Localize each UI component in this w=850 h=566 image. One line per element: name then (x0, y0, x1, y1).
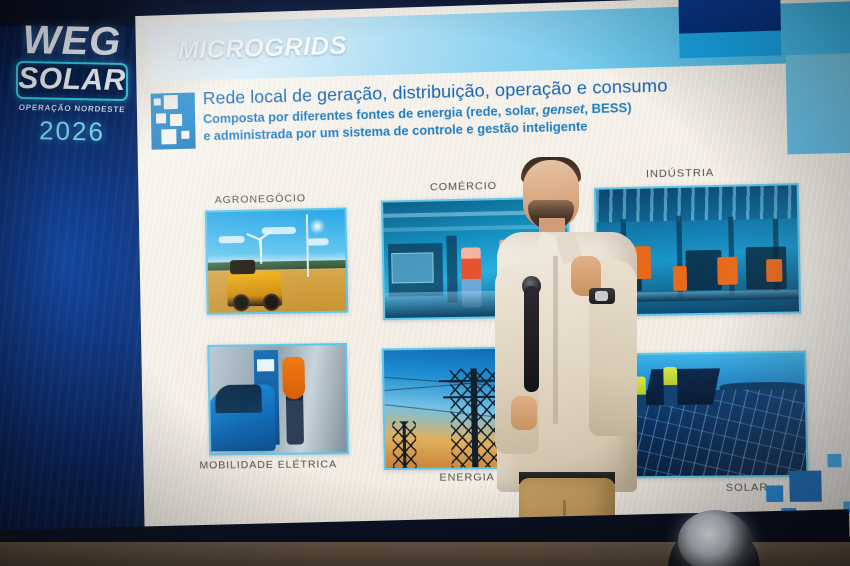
tile-mobilidade (207, 343, 349, 455)
projection-screen: MICROGRIDS Rede local de geração, distri… (135, 0, 850, 540)
presenter (497, 160, 637, 566)
event-logo: WEG SOLAR OPERAÇÃO NORDESTE 2026 (2, 21, 142, 214)
event-logo-solar: SOLAR (18, 64, 126, 96)
event-logo-subtitle: OPERAÇÃO NORDESTE (2, 103, 143, 115)
tile-agronegocio (205, 207, 349, 314)
caption-energia: ENERGIA (439, 471, 494, 484)
caption-solar: SOLAR (726, 481, 769, 494)
presentation-scene: WEG SOLAR OPERAÇÃO NORDESTE 2026 MICROGR… (0, 0, 850, 566)
decorative-pixel-1 (766, 485, 783, 502)
decorative-pixel-3 (827, 454, 841, 468)
presenter-hand-left (511, 396, 537, 430)
caption-mobilidade: MOBILIDADE ELÉTRICA (199, 458, 337, 471)
event-logo-year: 2026 (2, 115, 142, 149)
caption-industria: INDÚSTRIA (646, 166, 714, 180)
subtitle-line2-post: , BESS) (584, 101, 632, 117)
event-logo-weg: WEG (2, 21, 142, 62)
header-navy-block (678, 0, 780, 34)
wristwatch-icon (589, 288, 615, 304)
event-logo-solar-box: SOLAR (16, 61, 128, 101)
stage-light-lens (678, 510, 752, 566)
header-cyan-block (679, 31, 781, 59)
presenter-shirt-placket (553, 256, 558, 424)
page-title: MICROGRIDS (178, 32, 348, 66)
pixel-mosaic-icon (151, 92, 196, 149)
photo-mobilidade (209, 345, 347, 453)
microphone-icon (524, 286, 539, 392)
caption-agronegocio: AGRONEGÓCIO (215, 192, 307, 206)
caption-comercio: COMÉRCIO (430, 180, 497, 194)
subtitle-line2-emphasis: genset (542, 102, 584, 117)
decorative-pixel-2 (789, 471, 822, 502)
photo-agronegocio (207, 210, 346, 313)
